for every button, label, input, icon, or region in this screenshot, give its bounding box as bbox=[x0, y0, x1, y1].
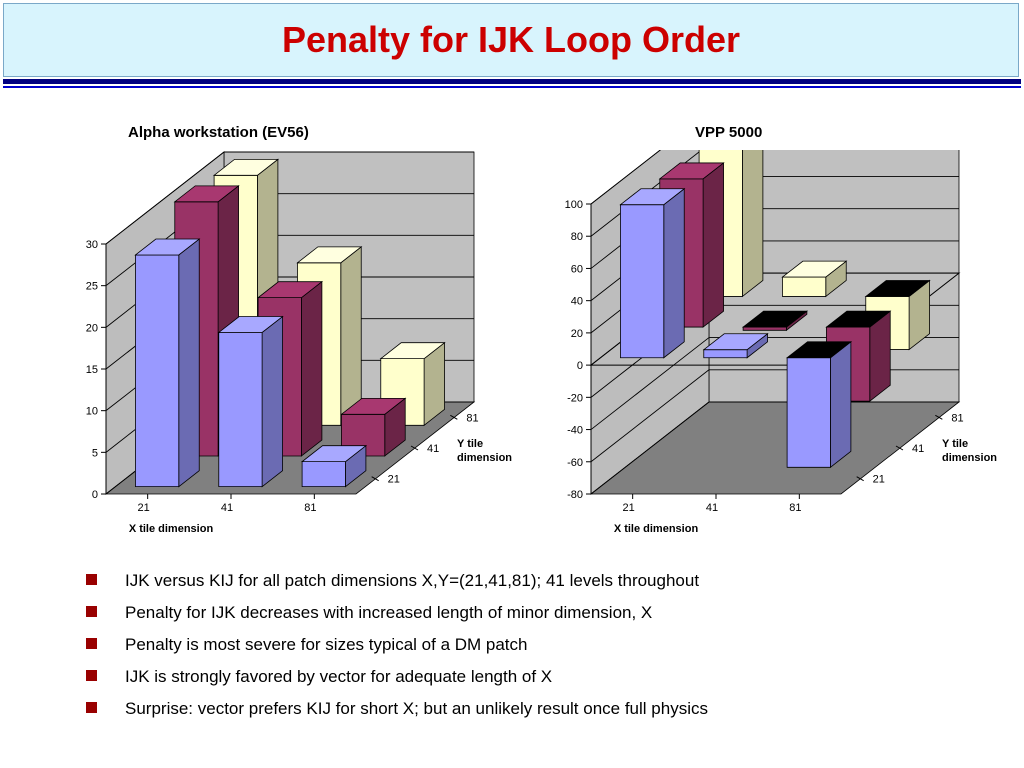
svg-text:41: 41 bbox=[706, 502, 718, 514]
bullet-text: IJK versus KIJ for all patch dimensions … bbox=[125, 566, 699, 596]
svg-text:100: 100 bbox=[565, 199, 583, 211]
bullet-text: Penalty for IJK decreases with increased… bbox=[125, 598, 652, 628]
svg-text:dimension: dimension bbox=[457, 452, 512, 464]
svg-text:20: 20 bbox=[86, 322, 98, 334]
list-item: Penalty for IJK decreases with increased… bbox=[86, 598, 966, 630]
bullet-text: IJK is strongly favored by vector for ad… bbox=[125, 662, 552, 692]
list-item: Penalty is most severe for sizes typical… bbox=[86, 630, 966, 662]
chart-vpp-plot: 100806040200-20-40-60-80214181X tile dim… bbox=[545, 150, 1015, 540]
list-item: Surprise: vector prefers KIJ for short X… bbox=[86, 694, 966, 726]
svg-text:-40: -40 bbox=[567, 425, 583, 437]
svg-text:30: 30 bbox=[86, 239, 98, 251]
bullet-text: Penalty is most severe for sizes typical… bbox=[125, 630, 528, 660]
svg-text:81: 81 bbox=[466, 412, 478, 424]
svg-text:41: 41 bbox=[221, 502, 233, 514]
banner-divider-thick bbox=[3, 79, 1021, 84]
svg-text:Y tile: Y tile bbox=[942, 438, 968, 450]
svg-text:0: 0 bbox=[92, 489, 98, 501]
chart-alpha-workstation: Alpha workstation (EV56) 051015202530214… bbox=[60, 120, 530, 540]
svg-text:X tile dimension: X tile dimension bbox=[129, 523, 214, 535]
svg-text:81: 81 bbox=[304, 502, 316, 514]
svg-text:81: 81 bbox=[789, 502, 801, 514]
svg-text:X tile dimension: X tile dimension bbox=[614, 523, 699, 535]
svg-text:41: 41 bbox=[427, 443, 439, 455]
list-item: IJK versus KIJ for all patch dimensions … bbox=[86, 566, 966, 598]
svg-text:21: 21 bbox=[873, 474, 885, 486]
svg-text:15: 15 bbox=[86, 364, 98, 376]
banner-divider-thin bbox=[3, 86, 1021, 88]
bullet-square-icon bbox=[86, 702, 97, 713]
svg-text:21: 21 bbox=[138, 502, 150, 514]
svg-text:80: 80 bbox=[571, 231, 583, 243]
svg-text:20: 20 bbox=[571, 328, 583, 340]
bullet-list: IJK versus KIJ for all patch dimensions … bbox=[86, 566, 966, 726]
svg-text:21: 21 bbox=[388, 474, 400, 486]
svg-text:21: 21 bbox=[623, 502, 635, 514]
svg-text:10: 10 bbox=[86, 406, 98, 418]
bullet-text: Surprise: vector prefers KIJ for short X… bbox=[125, 694, 708, 724]
svg-text:-80: -80 bbox=[567, 489, 583, 501]
svg-text:25: 25 bbox=[86, 281, 98, 293]
svg-text:81: 81 bbox=[951, 412, 963, 424]
list-item: IJK is strongly favored by vector for ad… bbox=[86, 662, 966, 694]
svg-text:Y tile: Y tile bbox=[457, 438, 483, 450]
svg-text:5: 5 bbox=[92, 447, 98, 459]
svg-text:41: 41 bbox=[912, 443, 924, 455]
chart-title-alpha: Alpha workstation (EV56) bbox=[128, 124, 309, 141]
svg-text:0: 0 bbox=[577, 360, 583, 372]
svg-text:-60: -60 bbox=[567, 457, 583, 469]
svg-text:40: 40 bbox=[571, 296, 583, 308]
title-banner: Penalty for IJK Loop Order bbox=[3, 3, 1019, 77]
chart-vpp-5000: VPP 5000 100806040200-20-40-60-80214181X… bbox=[545, 120, 1015, 540]
bullet-square-icon bbox=[86, 670, 97, 681]
bullet-square-icon bbox=[86, 638, 97, 649]
bullet-square-icon bbox=[86, 574, 97, 585]
svg-text:60: 60 bbox=[571, 263, 583, 275]
chart-alpha-plot: 051015202530214181X tile dimension214181… bbox=[60, 150, 530, 540]
svg-text:dimension: dimension bbox=[942, 452, 997, 464]
bullet-square-icon bbox=[86, 606, 97, 617]
chart-title-vpp: VPP 5000 bbox=[695, 124, 762, 141]
svg-text:-20: -20 bbox=[567, 392, 583, 404]
page-title: Penalty for IJK Loop Order bbox=[4, 4, 1018, 76]
